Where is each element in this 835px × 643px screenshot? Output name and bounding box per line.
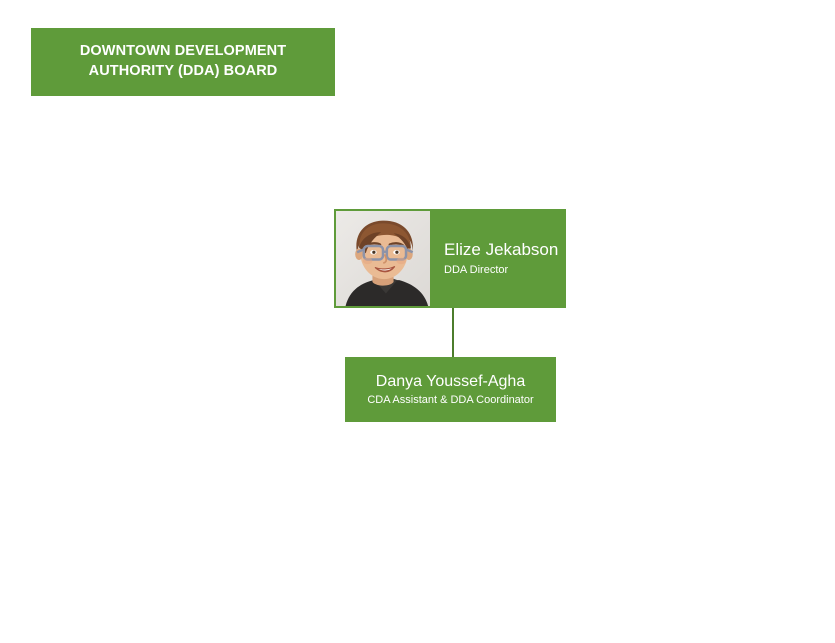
org-node-dda-director-text: Elize Jekabson DDA Director <box>432 209 566 308</box>
org-node-dda-director-title: DDA Director <box>444 263 560 277</box>
header-box-label: DOWNTOWN DEVELOPMENT AUTHORITY (DDA) BOA… <box>41 42 325 81</box>
org-node-dda-coordinator-title: CDA Assistant & DDA Coordinator <box>367 393 533 407</box>
org-node-dda-director-name: Elize Jekabson <box>444 240 560 260</box>
org-node-dda-coordinator-name: Danya Youssef-Agha <box>376 372 525 391</box>
connector-line-director-to-coordinator <box>452 308 454 358</box>
header-box-dda-board[interactable]: DOWNTOWN DEVELOPMENT AUTHORITY (DDA) BOA… <box>31 28 335 96</box>
org-node-dda-coordinator[interactable]: Danya Youssef-Agha CDA Assistant & DDA C… <box>345 357 556 422</box>
avatar-photo-elize-jekabson <box>334 209 432 308</box>
org-node-dda-director[interactable]: Elize Jekabson DDA Director <box>334 209 566 308</box>
org-chart: DOWNTOWN DEVELOPMENT AUTHORITY (DDA) BOA… <box>0 0 835 643</box>
